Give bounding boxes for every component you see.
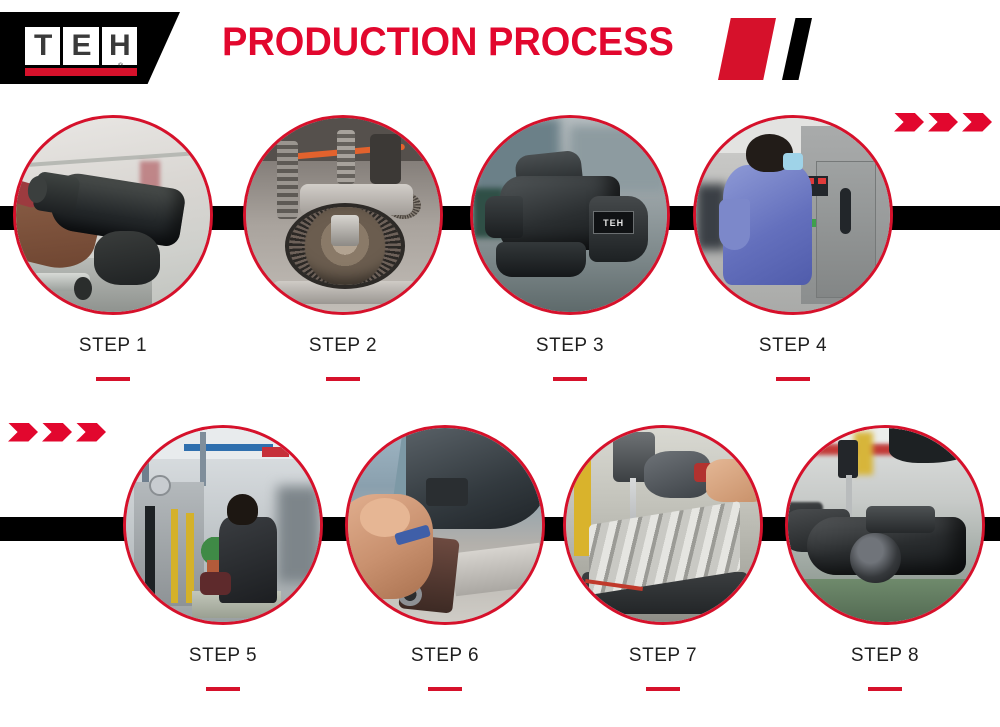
step-photo-7	[563, 425, 763, 625]
flow-arrows-row-2	[8, 420, 106, 444]
step-photo-5	[123, 425, 323, 625]
chevron-right-icon	[894, 113, 924, 132]
step-photo-8	[785, 425, 985, 625]
step-label-5: STEP 5	[120, 645, 326, 667]
registered-trademark-icon: ®	[118, 63, 123, 70]
step-underline-3	[553, 377, 587, 381]
chevron-right-icon	[8, 423, 38, 442]
step-underline-8	[868, 687, 902, 691]
process-row-2: STEP 5 STEP 6	[0, 420, 1000, 710]
chevron-right-icon	[928, 113, 958, 132]
step-item-3[interactable]: TEH STEP 3	[467, 115, 673, 381]
step-item-7[interactable]: STEP 7	[560, 425, 766, 691]
chevron-right-icon	[42, 423, 72, 442]
step-underline-1	[96, 377, 130, 381]
step-item-6[interactable]: STEP 6	[342, 425, 548, 691]
step-underline-2	[326, 377, 360, 381]
step-item-4[interactable]: STEP 4	[690, 115, 896, 381]
process-row-1: STEP 1 STEP 2	[0, 110, 1000, 400]
logo-letter-t: T	[25, 27, 60, 65]
step-label-2: STEP 2	[240, 335, 446, 357]
decorative-red-slash	[718, 18, 776, 80]
step-photo-1	[13, 115, 213, 315]
step-label-8: STEP 8	[782, 645, 988, 667]
step-item-2[interactable]: STEP 2	[240, 115, 446, 381]
step-label-7: STEP 7	[560, 645, 766, 667]
production-process-infographic: T E H ® PRODUCTION PROCESS	[0, 0, 1000, 727]
decorative-black-slash	[782, 18, 812, 80]
step-label-6: STEP 6	[342, 645, 548, 667]
step-underline-5	[206, 687, 240, 691]
chevron-right-icon	[76, 423, 106, 442]
step-item-8[interactable]: STEP 8	[782, 425, 988, 691]
step-photo-6	[345, 425, 545, 625]
product-badge: TEH	[593, 211, 634, 234]
step-label-1: STEP 1	[10, 335, 216, 357]
page-title: PRODUCTION PROCESS	[222, 20, 674, 65]
step-item-1[interactable]: STEP 1	[10, 115, 216, 381]
header-banner: T E H ® PRODUCTION PROCESS	[0, 0, 1000, 95]
logo-letter-h: H	[102, 27, 137, 65]
company-logo: T E H	[25, 27, 137, 65]
step-photo-3: TEH	[470, 115, 670, 315]
step-underline-6	[428, 687, 462, 691]
step-photo-2	[243, 115, 443, 315]
step-label-4: STEP 4	[690, 335, 896, 357]
logo-letter-e: E	[63, 27, 98, 65]
step-item-5[interactable]: STEP 5	[120, 425, 326, 691]
flow-arrows-row-1	[894, 110, 992, 134]
step-underline-4	[776, 377, 810, 381]
step-photo-4	[693, 115, 893, 315]
step-underline-7	[646, 687, 680, 691]
step-label-3: STEP 3	[467, 335, 673, 357]
chevron-right-icon	[962, 113, 992, 132]
